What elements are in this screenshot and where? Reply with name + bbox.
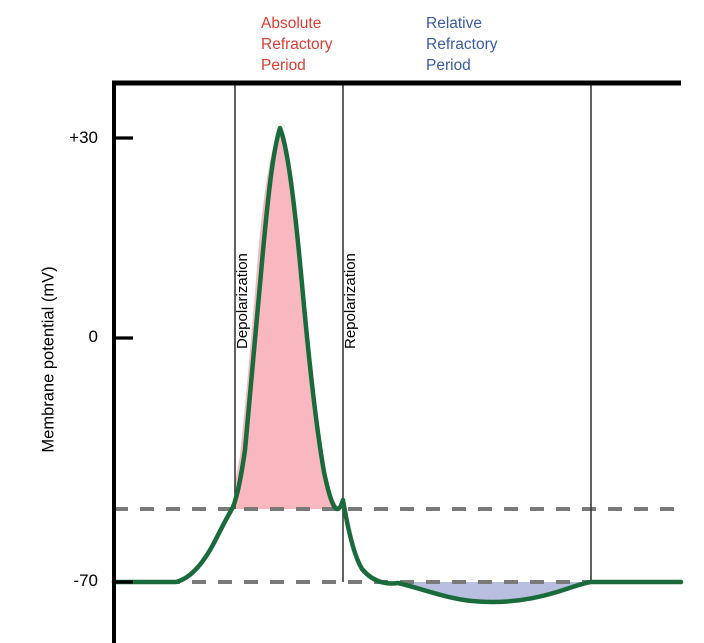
repolarization-label: Repolarization [342, 253, 359, 349]
action-potential-figure: Absolute Refractory Period Relative Refr… [0, 0, 704, 643]
y-axis-title: Membrane potential (mV) [40, 245, 59, 475]
absolute-refractory-period-title: Absolute Refractory Period [261, 13, 333, 76]
membrane-potential-curve [114, 128, 681, 602]
y-axis-tick-label-plus30: +30 [26, 128, 98, 148]
relative-refractory-period-title: Relative Refractory Period [426, 13, 498, 76]
y-axis-tick-label-minus70: -70 [26, 571, 98, 591]
depolarization-label: Depolarization [234, 253, 251, 349]
y-axis-tick-label-zero: 0 [26, 327, 98, 347]
